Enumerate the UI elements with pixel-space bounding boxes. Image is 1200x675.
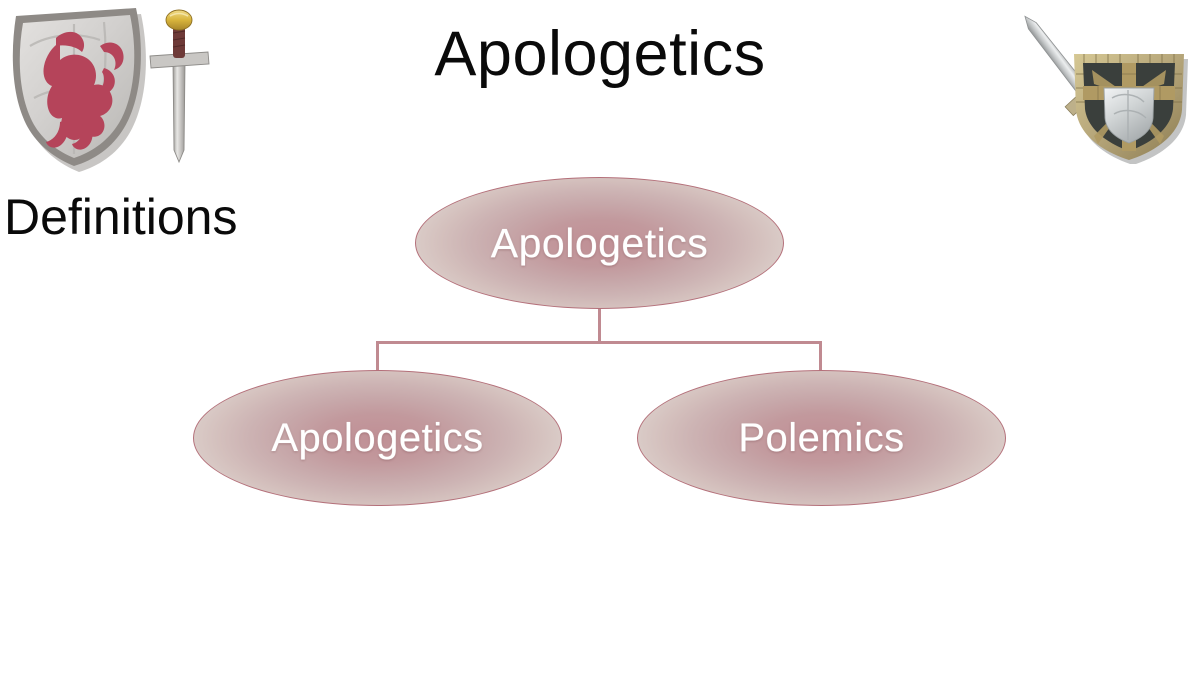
diagram-node-label: Apologetics (491, 220, 708, 267)
diagram-node-polemics[interactable]: Polemics (637, 370, 1006, 506)
connector-root-stem (598, 306, 601, 344)
slide-subtitle: Definitions (4, 188, 237, 246)
slide-canvas: Apologetics Definitions Apologetics Apol… (0, 0, 1200, 675)
connector-horizontal-bar (376, 341, 822, 344)
page-title: Apologetics (0, 18, 1200, 90)
diagram-node-root[interactable]: Apologetics (415, 177, 784, 309)
diagram-node-label: Apologetics (271, 416, 483, 461)
diagram-node-apologetics[interactable]: Apologetics (193, 370, 562, 506)
diagram-node-label: Polemics (738, 416, 904, 461)
